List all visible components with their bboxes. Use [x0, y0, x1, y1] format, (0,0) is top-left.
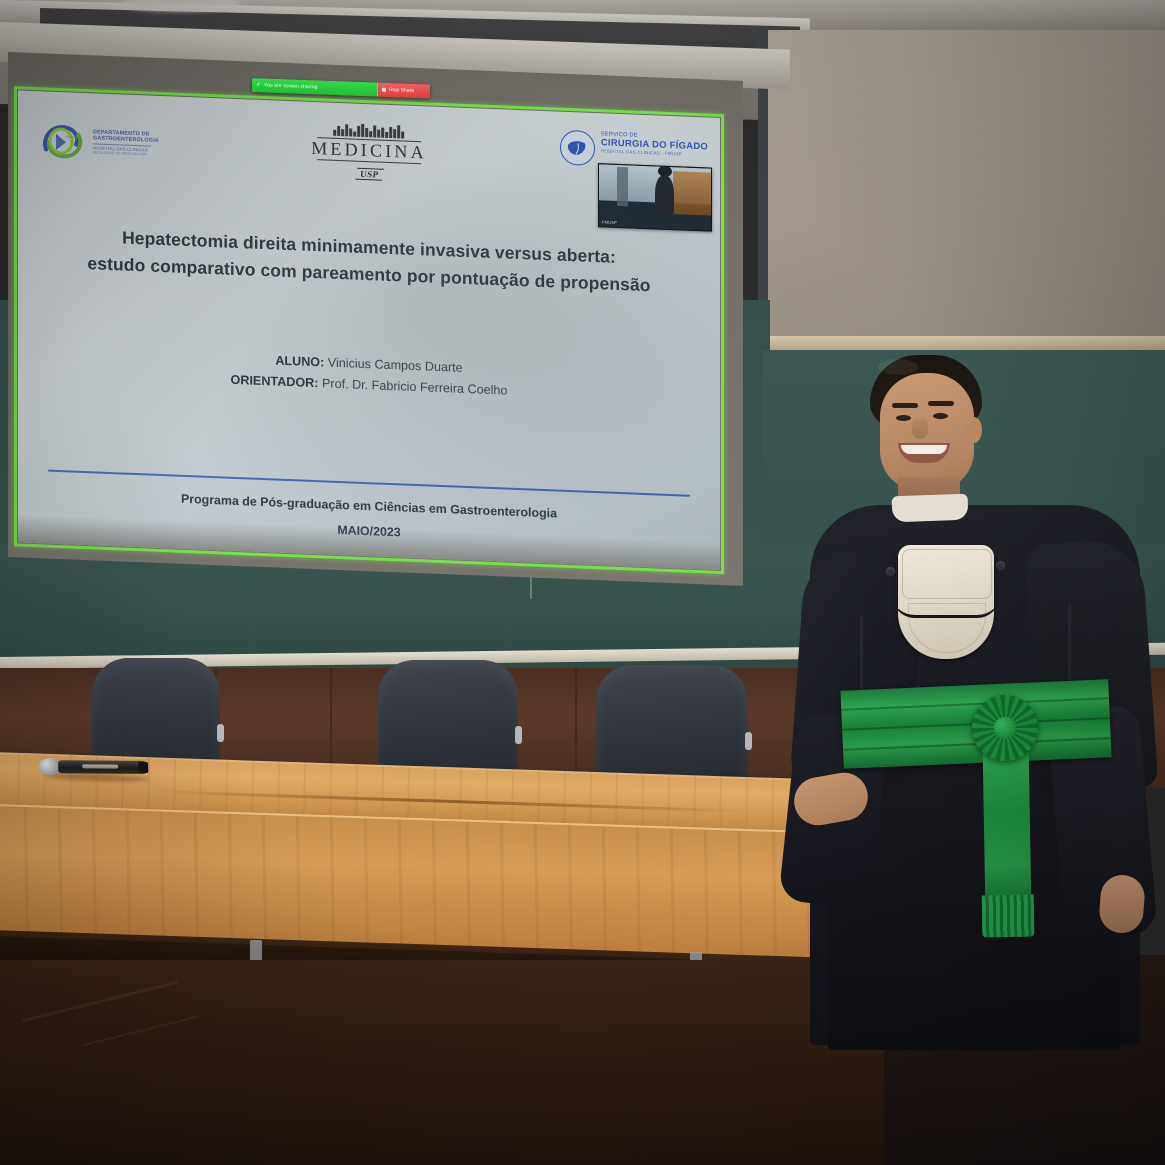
- medicina-wordmark: MEDICINA: [311, 139, 427, 162]
- wireless-microphone: [38, 758, 150, 776]
- stop-share-button[interactable]: Stop Share: [378, 83, 430, 99]
- student-label: ALUNO:: [275, 354, 324, 370]
- svg-text:FMUSP: FMUSP: [66, 134, 80, 140]
- projection-screen: FMUSP DEPARTAMENTO DE GASTROENTEROLOGIA …: [8, 52, 743, 586]
- slide-credits: ALUNO: Vinicius Campos Duarte ORIENTADOR…: [18, 340, 720, 409]
- eyebrow-right: [928, 401, 954, 406]
- presentation-slide: FMUSP DEPARTAMENTO DE GASTROENTEROLOGIA …: [18, 90, 720, 570]
- microphone-cap: [138, 762, 148, 773]
- ear: [966, 417, 982, 443]
- advisor-name: Prof. Dr. Fabricio Ferreira Coelho: [322, 376, 507, 397]
- sash-fringe: [982, 895, 1035, 938]
- sash-rosette: [972, 695, 1038, 761]
- robe-button-left: [886, 567, 895, 576]
- student-name: Vinicius Campos Duarte: [328, 356, 463, 375]
- robe-button-right: [996, 561, 1005, 570]
- eye-right: [933, 413, 948, 419]
- thumb-shelf: [673, 171, 711, 216]
- stop-share-label: Stop Share: [389, 87, 414, 94]
- presenter: [800, 355, 1165, 1055]
- thumb-person-silhouette: [655, 175, 674, 220]
- usp-badge: USP: [355, 167, 383, 180]
- eyebrow-left: [892, 403, 918, 408]
- chair: [378, 660, 518, 778]
- eye-left: [896, 415, 911, 421]
- wall-right-trim: [762, 336, 1165, 350]
- liver-icon: [560, 130, 595, 166]
- sharing-status-label: You are screen sharing: [264, 82, 317, 90]
- gastro-swirl-logo-icon: FMUSP: [40, 119, 86, 163]
- slide-title: Hepatectomia direita minimamente invasiv…: [18, 220, 720, 302]
- stop-square-icon: [382, 88, 386, 92]
- nose: [912, 417, 928, 439]
- wall-right: [762, 30, 1165, 350]
- medicina-usp-logo: MEDICINA USP: [311, 122, 427, 184]
- thumb-column: [617, 167, 628, 206]
- microphone-band: [82, 764, 118, 768]
- shirt-collar: [892, 494, 969, 523]
- gastroenterology-logo: FMUSP DEPARTAMENTO DE GASTROENTEROLOGIA …: [40, 119, 159, 166]
- gastro-logo-line2: GASTROENTEROLOGIA: [93, 135, 159, 144]
- thumb-label: FMUSP: [602, 219, 617, 225]
- sash-tail: [983, 753, 1032, 904]
- jabot-cord: [892, 595, 1000, 618]
- auditorium-photo: FMUSP DEPARTAMENTO DE GASTROENTEROLOGIA …: [0, 0, 1165, 1165]
- video-participant-thumbnail[interactable]: FMUSP: [598, 163, 712, 231]
- check-icon: ✓: [256, 82, 261, 88]
- advisor-label: ORIENTADOR:: [231, 373, 319, 390]
